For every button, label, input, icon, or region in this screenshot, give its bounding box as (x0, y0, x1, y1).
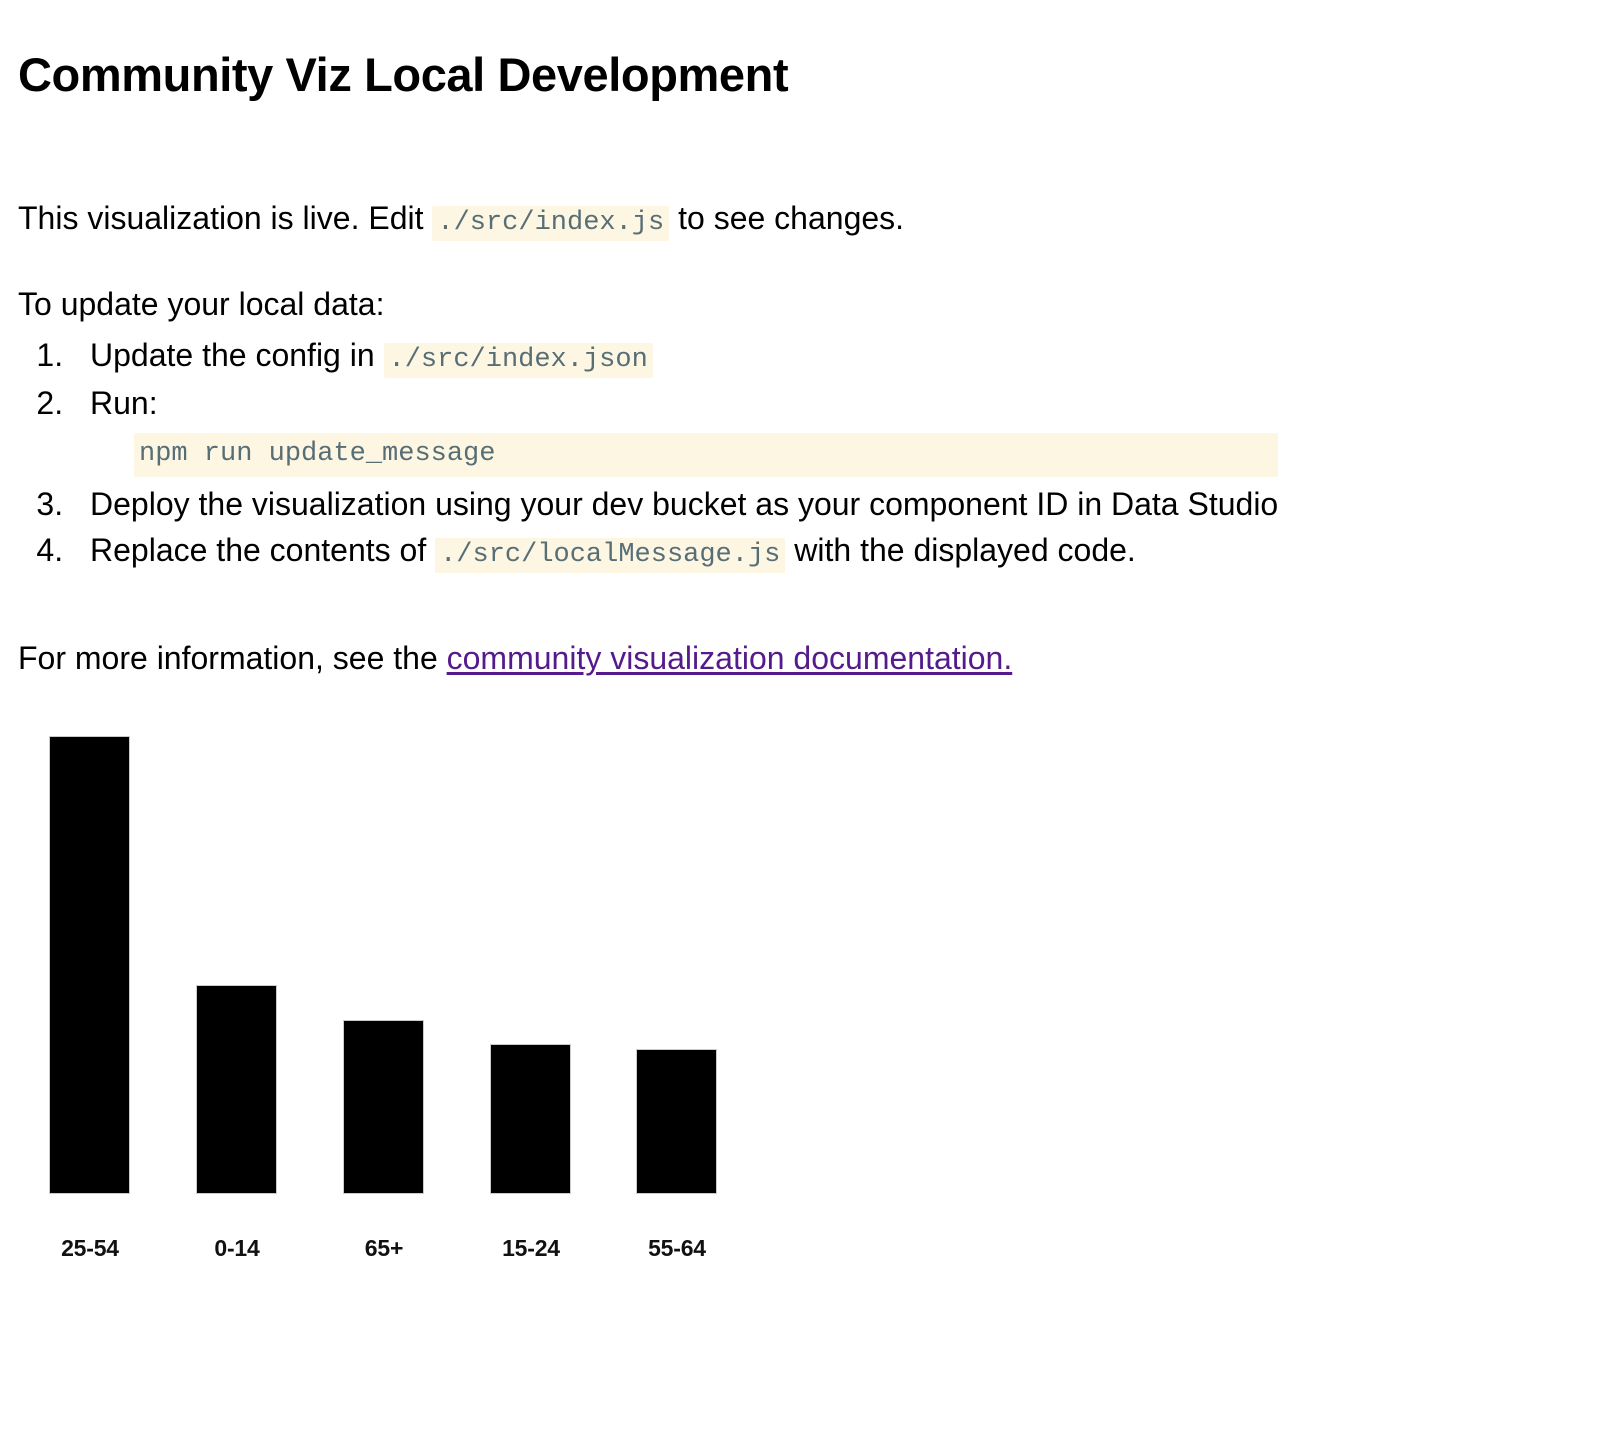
bar-label-4: 55-64 (617, 1235, 737, 1262)
bar-2[interactable] (344, 1021, 423, 1193)
bar-slot-0 (50, 737, 129, 1193)
local-message-js-code: ./src/localMessage.js (435, 538, 785, 573)
bar-3[interactable] (491, 1045, 570, 1193)
update-data-heading: To update your local data: (18, 284, 384, 325)
community-visualization-documentation-link[interactable]: community visualization documentation. (447, 640, 1013, 676)
index-json-code: ./src/index.json (384, 343, 653, 378)
index-js-code: ./src/index.js (432, 206, 669, 241)
step-3-text: Deploy the visualization using your dev … (90, 486, 1278, 522)
live-edit-suffix: to see changes. (669, 200, 904, 236)
bar-chart: 25-54 0-14 65+ 15-24 55-64 (0, 700, 780, 1260)
more-info-paragraph: For more information, see the community … (18, 638, 1012, 679)
bar-slot-2 (344, 737, 423, 1193)
more-info-prefix: For more information, see the (18, 640, 447, 676)
step-4-text-before: Replace the contents of (90, 532, 435, 568)
bar-slot-4 (637, 737, 716, 1193)
bar-label-3: 15-24 (471, 1235, 591, 1262)
bar-slot-3 (491, 737, 570, 1193)
bar-slot-1 (197, 737, 276, 1193)
bar-label-0: 25-54 (30, 1235, 150, 1262)
step-item-4: Replace the contents of ./src/localMessa… (72, 527, 1278, 575)
step-2-text: Run: (90, 385, 158, 421)
step-1-text: Update the config in (90, 337, 384, 373)
npm-run-command-code: npm run update_message (134, 433, 1278, 477)
bar-0[interactable] (50, 737, 129, 1193)
step-4-text-after: with the displayed code. (785, 532, 1135, 568)
step-item-2: Run:npm run update_message (72, 380, 1278, 477)
update-steps-list: Update the config in ./src/index.json Ru… (18, 332, 1278, 575)
page-title: Community Viz Local Development (18, 48, 788, 102)
bar-1[interactable] (197, 986, 276, 1193)
step-item-3: Deploy the visualization using your dev … (72, 481, 1278, 527)
bar-4[interactable] (637, 1050, 716, 1193)
bar-chart-plot-area: 25-54 0-14 65+ 15-24 55-64 (50, 737, 716, 1193)
live-edit-prefix: This visualization is live. Edit (18, 200, 432, 236)
visualization-page: Community Viz Local Development This vis… (0, 0, 1600, 1435)
step-item-1: Update the config in ./src/index.json (72, 332, 1278, 380)
bar-label-2: 65+ (324, 1235, 444, 1262)
bar-label-1: 0-14 (177, 1235, 297, 1262)
live-edit-paragraph: This visualization is live. Edit ./src/i… (18, 198, 904, 241)
